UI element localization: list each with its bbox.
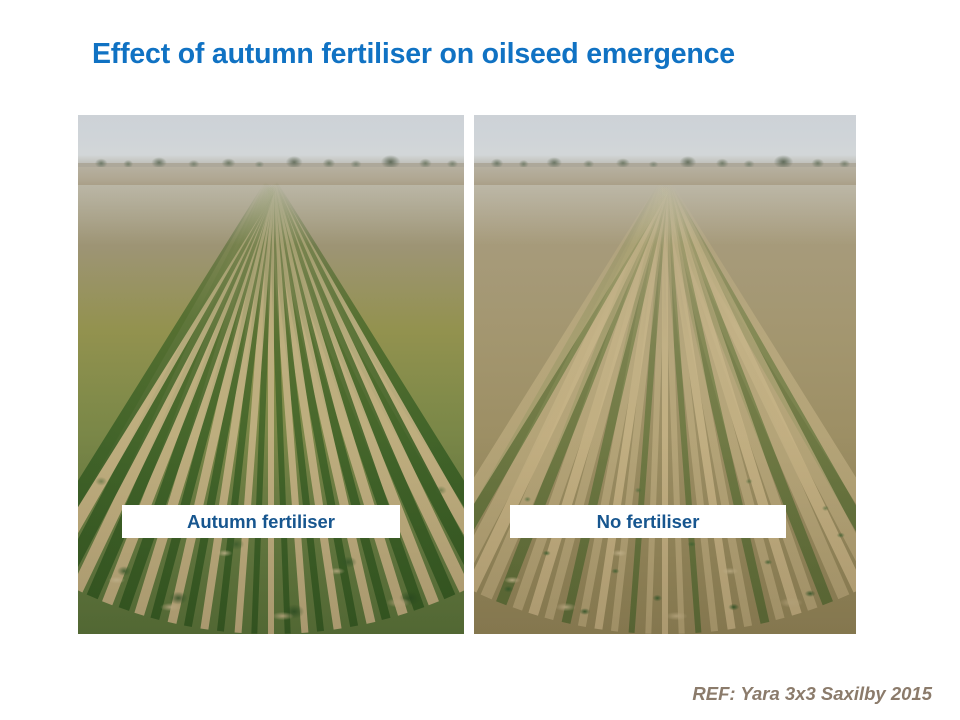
photo-autumn-fertiliser-image: [78, 115, 464, 634]
reference-note: REF: Yara 3x3 Saxilby 2015: [0, 683, 932, 705]
horizon-haze: [78, 185, 464, 245]
field: [78, 185, 464, 634]
caption-no-fertiliser: No fertiliser: [510, 505, 786, 538]
foreground-shading: [78, 185, 464, 634]
photo-no-fertiliser: [474, 115, 856, 634]
horizon-haze: [474, 185, 856, 245]
page-title: Effect of autumn fertiliser on oilseed e…: [92, 38, 932, 71]
foreground-shading: [474, 185, 856, 634]
photo-autumn-fertiliser: [78, 115, 464, 634]
field: [474, 185, 856, 634]
caption-autumn-fertiliser: Autumn fertiliser: [122, 505, 400, 538]
photo-no-fertiliser-image: [474, 115, 856, 634]
